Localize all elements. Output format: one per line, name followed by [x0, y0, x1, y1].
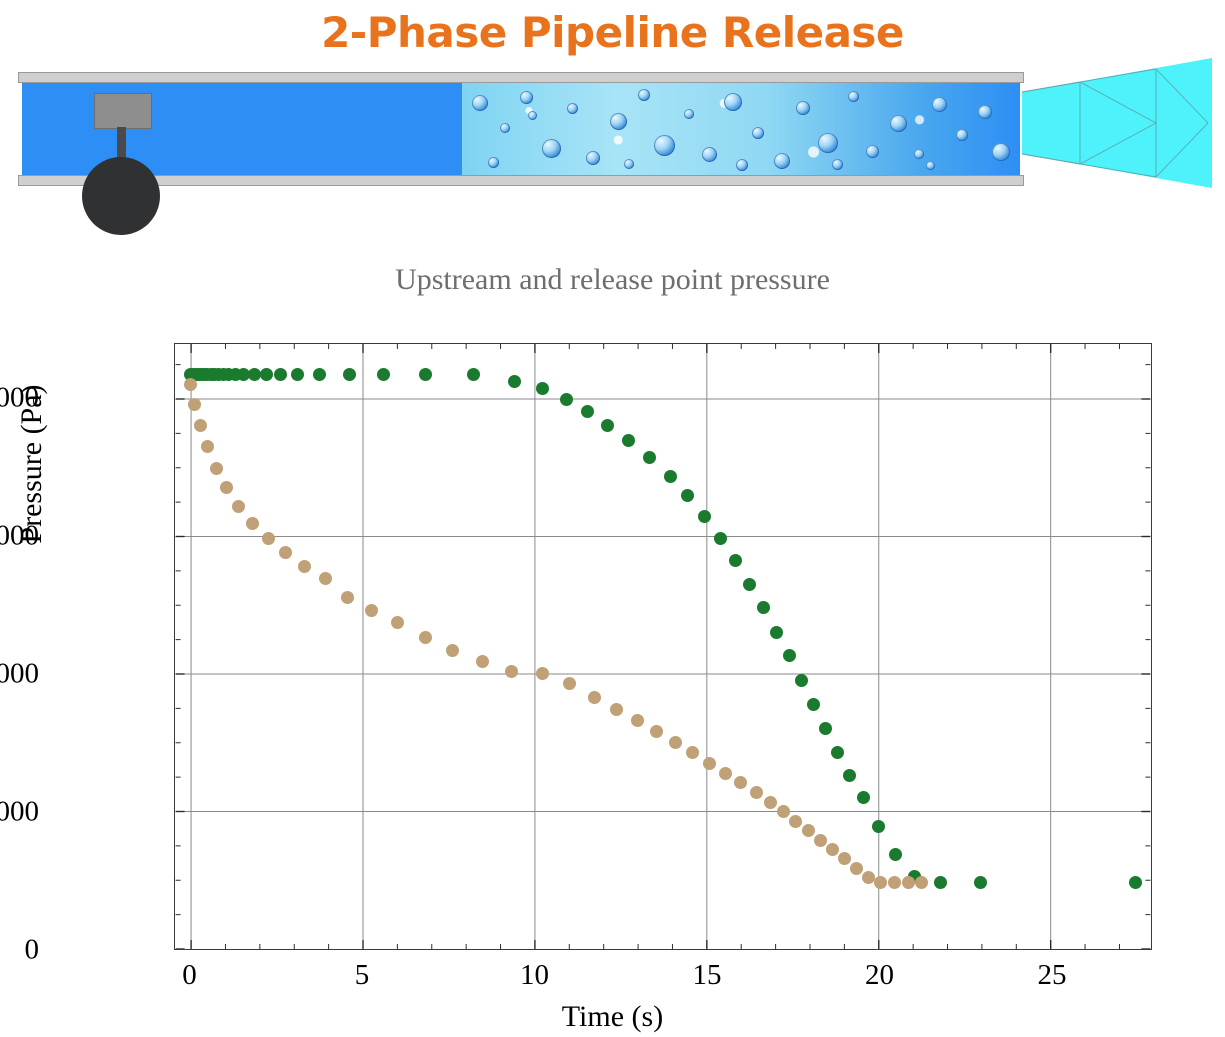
data-point [743, 578, 756, 591]
pipeline-diagram: 2-Phase Pipeline Release [0, 0, 1225, 215]
bubble-icon [774, 153, 790, 169]
bubble-icon [567, 103, 578, 114]
pipe-wall-bottom [18, 175, 1024, 186]
data-point [974, 876, 987, 889]
data-point [631, 714, 644, 727]
x-tick-label: 10 [520, 959, 549, 992]
bubble-icon [818, 133, 838, 153]
bubble-icon [610, 113, 627, 130]
data-point [703, 757, 716, 770]
data-point [298, 560, 311, 573]
data-point [764, 796, 777, 809]
data-point [1129, 876, 1142, 889]
x-axis-label: Time (s) [0, 1000, 1225, 1034]
data-point [681, 489, 694, 502]
data-point [508, 375, 521, 388]
data-point [505, 665, 518, 678]
bubble-icon [914, 149, 924, 159]
plot-frame [174, 343, 1152, 950]
data-point [643, 451, 656, 464]
single-phase-liquid-region [22, 83, 462, 175]
bubble-icon [684, 109, 694, 119]
valve-stem [117, 127, 126, 159]
y-tick-label: 200 000 [0, 796, 39, 829]
bubble-icon [932, 97, 947, 112]
data-point [650, 725, 663, 738]
two-phase-bubbly-region [462, 83, 1020, 175]
data-point [588, 691, 601, 704]
data-point [757, 601, 770, 614]
x-tick-label: 0 [182, 959, 197, 992]
data-point [838, 852, 851, 865]
data-point [698, 510, 711, 523]
bubble-icon [736, 159, 748, 171]
data-point [291, 368, 304, 381]
data-point [874, 876, 887, 889]
data-point [248, 368, 261, 381]
data-point [365, 604, 378, 617]
bubble-icon [528, 111, 537, 120]
bubble-icon [488, 157, 499, 168]
data-point [260, 368, 273, 381]
data-point [419, 368, 432, 381]
data-point [210, 462, 223, 475]
data-point [343, 368, 356, 381]
bubble-icon [832, 159, 843, 170]
x-tick-label: 5 [355, 959, 370, 992]
chart-title: Upstream and release point pressure [0, 263, 1225, 297]
data-point [850, 862, 863, 875]
data-point [581, 405, 594, 418]
data-point [686, 746, 699, 759]
data-point [888, 876, 901, 889]
data-point [669, 736, 682, 749]
bubble-icon [500, 123, 510, 133]
data-point [795, 674, 808, 687]
data-point [807, 698, 820, 711]
bubble-icon [702, 147, 717, 162]
data-point [750, 786, 763, 799]
bubble-icon [926, 161, 935, 170]
data-point [476, 655, 489, 668]
bubble-icon [890, 115, 907, 132]
data-point [814, 834, 827, 847]
bubble-icon [724, 93, 742, 111]
pipe-assembly [18, 72, 1024, 186]
data-point [232, 500, 245, 513]
data-point [719, 767, 732, 780]
data-point [319, 572, 332, 585]
x-tick-label: 15 [692, 959, 721, 992]
data-point [419, 631, 432, 644]
data-point [826, 843, 839, 856]
data-point [783, 649, 796, 662]
data-point [201, 440, 214, 453]
data-point [274, 368, 287, 381]
data-point [560, 393, 573, 406]
data-point [915, 876, 928, 889]
bubble-icon [586, 151, 600, 165]
bubble-icon [956, 129, 968, 141]
bubble-icon [796, 101, 810, 115]
data-point [664, 470, 677, 483]
bubble-icon [848, 91, 859, 102]
bubble-icon [752, 127, 764, 139]
data-point [843, 769, 856, 782]
y-tick-label: 800 000 [0, 382, 39, 415]
bubble-icon [472, 95, 488, 111]
bubble-icon [978, 105, 992, 119]
bubble-icon [520, 91, 533, 104]
bubble-icon [638, 89, 650, 101]
data-point [934, 876, 947, 889]
data-point [184, 378, 197, 391]
valve-actuator[interactable] [94, 93, 152, 129]
data-point [831, 746, 844, 759]
data-point [377, 368, 390, 381]
bubble-icon [624, 159, 634, 169]
data-point [802, 824, 815, 837]
y-tick-label: 0 [25, 934, 40, 967]
bubble-icon [992, 143, 1010, 161]
y-axis-label: Pressure (Pa) [15, 314, 49, 614]
x-tick-label: 20 [865, 959, 894, 992]
data-point [246, 517, 259, 530]
y-tick-label: 400 000 [0, 658, 39, 691]
plot-grid [175, 344, 1151, 949]
data-point [262, 532, 275, 545]
bubble-icon [866, 145, 879, 158]
pipe-wall-top [18, 72, 1024, 83]
release-jet [1022, 58, 1212, 188]
data-point [714, 532, 727, 545]
bubble-icon [542, 139, 561, 158]
x-tick-label: 25 [1037, 959, 1066, 992]
page-title: 2-Phase Pipeline Release [0, 8, 1225, 57]
data-point [279, 546, 292, 559]
y-tick-label: 600 000 [0, 520, 39, 553]
data-point [467, 368, 480, 381]
pressure-chart: Upstream and release point pressure Pres… [0, 215, 1225, 1037]
data-point [902, 876, 915, 889]
bubble-icon [654, 135, 675, 156]
